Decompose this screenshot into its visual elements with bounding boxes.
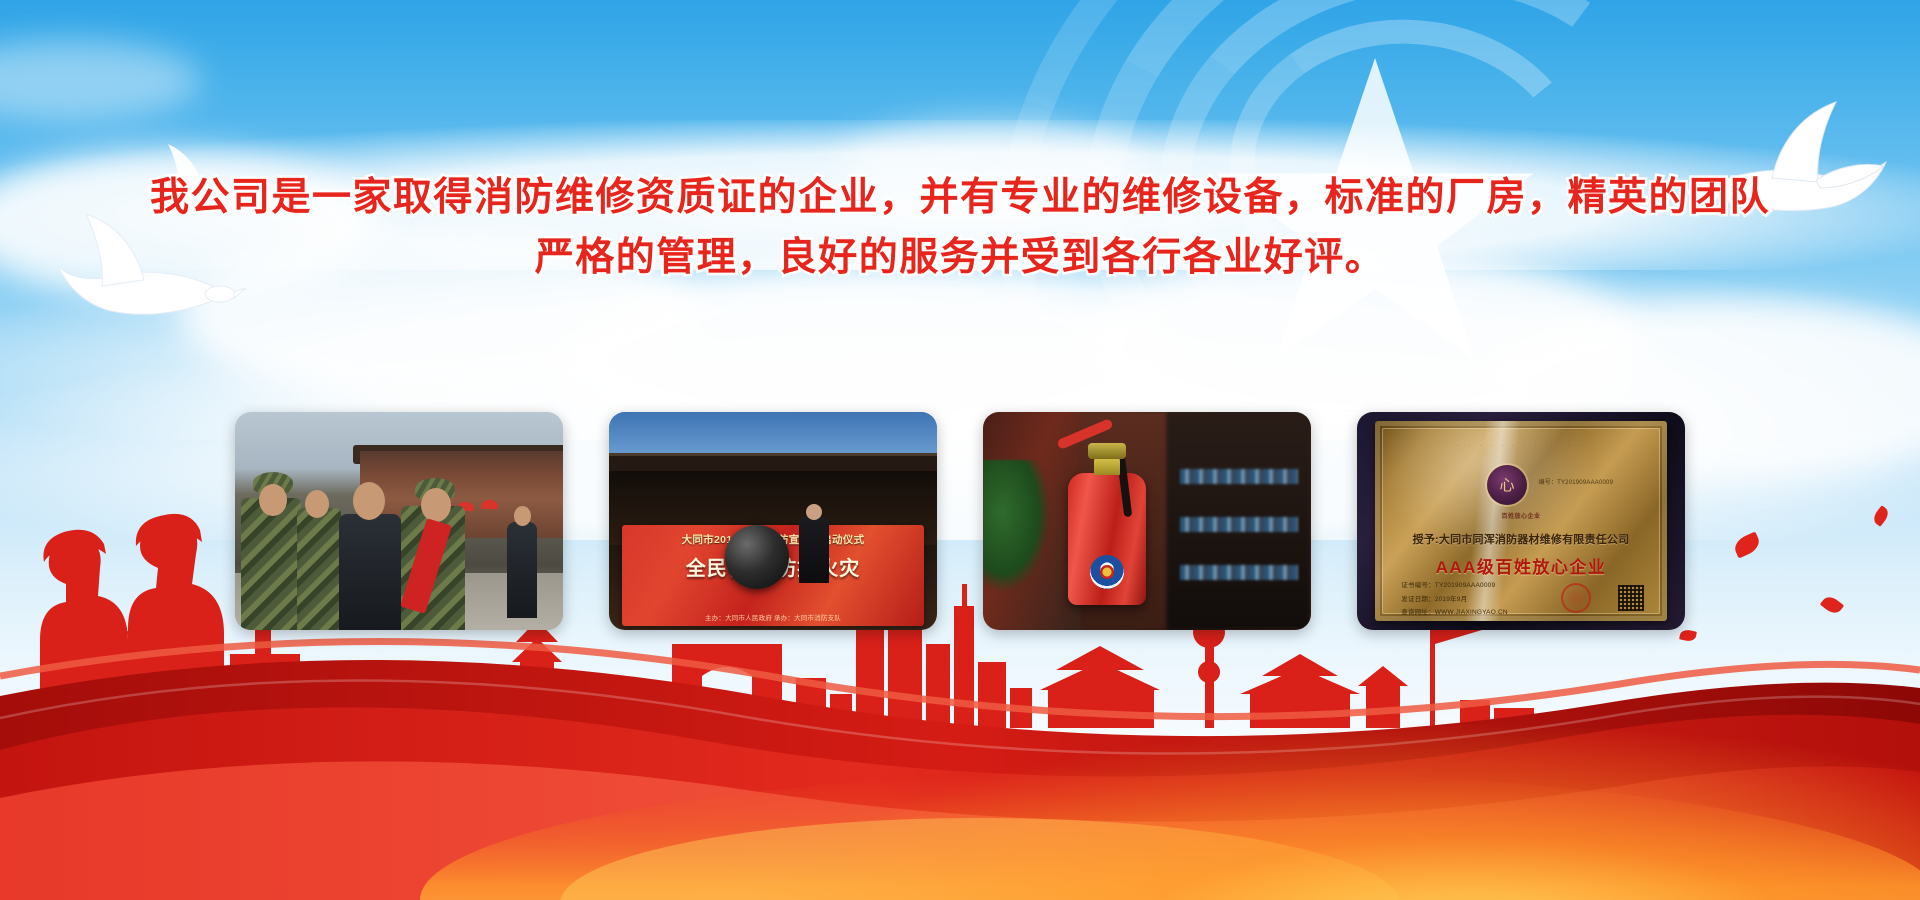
person-head-2	[305, 490, 329, 518]
book-row-1	[1180, 469, 1298, 484]
promo-banner: 我公司是一家取得消防维修资质证的企业，并有专业的维修设备，标准的厂房，精英的团队…	[0, 0, 1920, 900]
bystander-figure	[507, 522, 537, 618]
plaque-cert-no: 证书编号：TY201909AAA0009	[1401, 579, 1495, 589]
plaque-grant-line: 授予:大同市同浑消防器材维修有限责任公司	[1375, 531, 1667, 547]
plaque-issue-date: 发证日期：2019年9月	[1401, 593, 1467, 603]
person-head-5	[514, 506, 531, 526]
photo-strip: 领导检查消防器材现场 大同市2018年119消防宣传月启动仪式 全民参与 防控火…	[0, 412, 1920, 630]
extinguisher-badge-icon	[1090, 555, 1124, 589]
person-head-3	[353, 482, 385, 520]
book-row-2	[1180, 517, 1298, 532]
book-row-3	[1180, 565, 1298, 580]
person-head-4	[421, 488, 451, 522]
extinguisher-neck	[1094, 457, 1120, 475]
ceremony-banner-footer: 主办：大同市人民政府 承办：大同市消防支队	[622, 612, 924, 622]
red-ribbon-wave-icon	[0, 600, 1920, 900]
speaker-figure	[799, 517, 829, 583]
headline-line-2: 严格的管理，良好的服务并受到各行各业好评。	[0, 228, 1920, 288]
fire-extinguisher-icon	[1068, 473, 1146, 605]
plaque-award-title: AAA级百姓放心企业	[1375, 553, 1667, 578]
soldier-figure-1	[241, 498, 301, 630]
extinguisher-valve	[1088, 443, 1126, 459]
photo-inspection[interactable]: 领导检查消防器材现场	[235, 412, 563, 630]
potted-plant-shape	[983, 460, 1049, 591]
qr-code-icon	[1618, 585, 1644, 611]
award-plaque: · · · · · · · · · · · · 百姓放心企业 编号：TY2019…	[1375, 421, 1667, 622]
plaque-microtext: · · · · · · · · · · · ·	[1375, 443, 1667, 449]
red-cap-3	[481, 500, 498, 509]
falling-petal-3	[1679, 628, 1697, 642]
bottom-gold-glow	[730, 720, 1920, 900]
photo-ceremony[interactable]: 大同市2018年119消防宣传月启动仪式 全民参与 防控火灾 主办：大同市人民政…	[609, 412, 937, 630]
stage-globe-prop	[725, 525, 789, 589]
trusted-enterprise-emblem-icon	[1487, 465, 1527, 505]
person-head-1	[259, 484, 287, 516]
emblem-label: 百姓放心企业	[1471, 511, 1571, 520]
plaque-query-url: 查询网址：WWW.JIAXINGYAO.CN	[1401, 606, 1507, 616]
photo-extinguisher[interactable]: 手提式干粉灭火器	[983, 412, 1311, 630]
headline-block: 我公司是一家取得消防维修资质证的企业，并有专业的维修设备，标准的厂房，精英的团队…	[0, 168, 1920, 288]
plaque-cert-code-top: 编号：TY201909AAA0009	[1538, 477, 1613, 486]
official-figure	[339, 514, 401, 630]
cloud-puff-7	[0, 40, 200, 120]
soldier-figure-2	[297, 508, 341, 630]
photo-plaque[interactable]: · · · · · · · · · · · · 百姓放心企业 编号：TY2019…	[1357, 412, 1685, 630]
headline-line-1: 我公司是一家取得消防维修资质证的企业，并有专业的维修设备，标准的厂房，精英的团队	[0, 168, 1920, 228]
